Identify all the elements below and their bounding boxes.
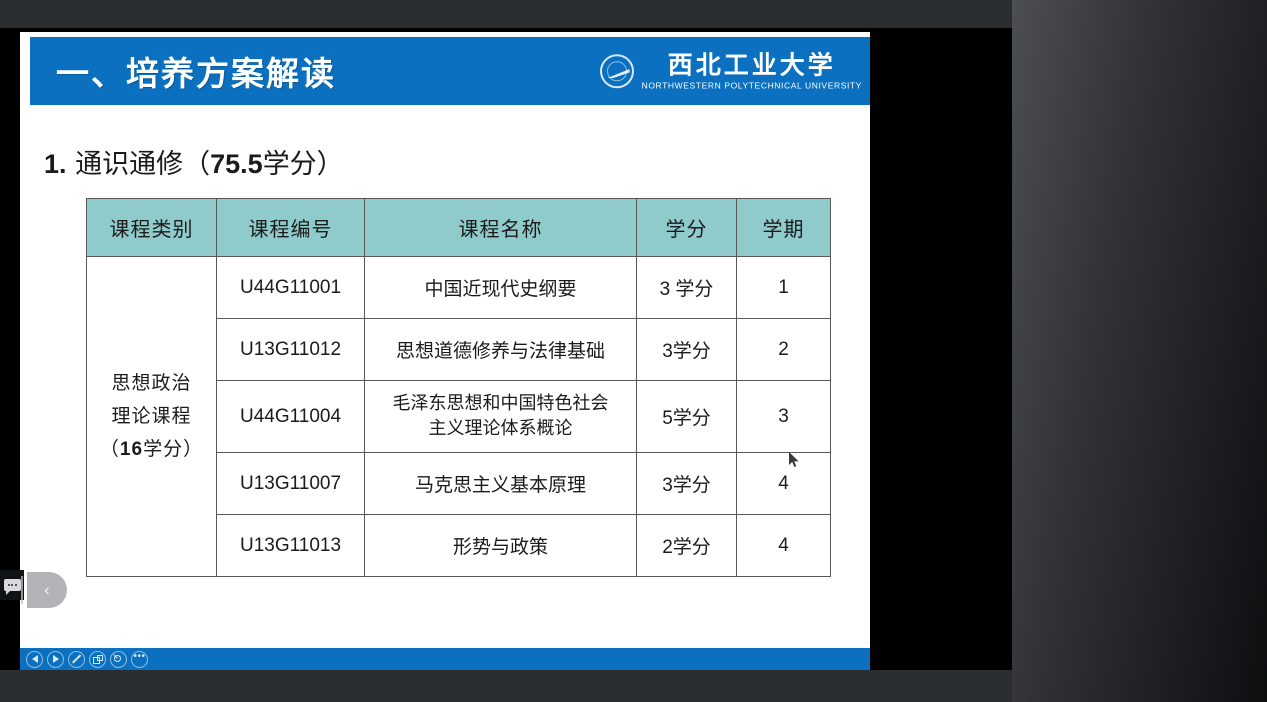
university-name-cn: 西北工业大学 (668, 52, 836, 77)
cell-course-term: 2 (737, 319, 831, 381)
slide-section-heading: 1. 通识通修（75.5学分） (44, 142, 344, 181)
cell-course-name: 形势与政策 (365, 515, 637, 577)
zoom-button[interactable] (110, 651, 127, 668)
cell-course-name: 中国近现代史纲要 (365, 257, 637, 319)
table-row: 思想政治 理论课程 （16学分） U44G11001 中国近现代史纲要 3 学分… (87, 257, 831, 319)
pen-tool-button[interactable] (68, 651, 85, 668)
table-header-row: 课程类别 课程编号 课程名称 学分 学期 (87, 199, 831, 257)
previous-slide-button[interactable] (26, 651, 43, 668)
course-name-line-1: 毛泽东思想和中国特色社会 (365, 392, 636, 416)
screen-root: 一、培养方案解读 西北工业大学 NORTHWESTERN POLYTECHNIC… (0, 0, 1267, 702)
cell-course-credit: 3学分 (637, 453, 737, 515)
chat-bubble-icon[interactable] (4, 579, 21, 591)
cell-course-name: 思想道德修养与法律基础 (365, 319, 637, 381)
cell-course-code: U44G11001 (217, 257, 365, 319)
cell-category: 思想政治 理论课程 （16学分） (87, 257, 217, 577)
participants-filmstrip: 高永胜 涵璞璞 (1012, 0, 1267, 702)
collapse-panel-button[interactable]: ‹ (27, 572, 67, 608)
category-credits: （16学分） (87, 433, 216, 466)
column-header-category: 课程类别 (87, 199, 217, 257)
all-slides-button[interactable] (89, 651, 106, 668)
cell-course-code: U13G11012 (217, 319, 365, 381)
slide-title: 一、培养方案解读 (56, 47, 336, 95)
column-header-term: 学期 (737, 199, 831, 257)
cell-course-credit: 3学分 (637, 319, 737, 381)
university-name-en: NORTHWESTERN POLYTECHNICAL UNIVERSITY (642, 81, 862, 90)
slide-title-bar: 一、培养方案解读 西北工业大学 NORTHWESTERN POLYTECHNIC… (30, 37, 870, 105)
cell-course-code: U13G11013 (217, 515, 365, 577)
cell-course-name: 毛泽东思想和中国特色社会 主义理论体系概论 (365, 381, 637, 453)
ellipsis-icon: ••• (133, 652, 145, 662)
heading-text: 通识通修（ (75, 149, 210, 180)
course-name-line-2: 主义理论体系概论 (365, 417, 636, 441)
university-logo: 西北工业大学 NORTHWESTERN POLYTECHNICAL UNIVER… (600, 52, 862, 90)
heading-credits: 75.5 (210, 149, 263, 179)
cell-course-code: U44G11004 (217, 381, 365, 453)
presenter-toolbar[interactable]: ••• (20, 648, 870, 670)
screen-share-stage: 一、培养方案解读 西北工业大学 NORTHWESTERN POLYTECHNIC… (0, 0, 1012, 702)
course-table: 课程类别 课程编号 课程名称 学分 学期 思想政治 理论课程 （16学分） (86, 198, 831, 577)
presentation-slide: 一、培养方案解读 西北工业大学 NORTHWESTERN POLYTECHNIC… (20, 32, 870, 670)
cell-course-credit: 5学分 (637, 381, 737, 453)
cell-course-term: 4 (737, 453, 831, 515)
course-table-body: 思想政治 理论课程 （16学分） U44G11001 中国近现代史纲要 3 学分… (87, 257, 831, 577)
category-line-2: 理论课程 (87, 400, 216, 433)
mouse-cursor (789, 452, 800, 468)
heading-number: 1. (44, 149, 67, 179)
cell-course-term: 1 (737, 257, 831, 319)
category-credits-value: 16 (120, 439, 143, 460)
column-header-credit: 学分 (637, 199, 737, 257)
cell-course-term: 3 (737, 381, 831, 453)
cell-course-term: 4 (737, 515, 831, 577)
cell-course-name: 马克思主义基本原理 (365, 453, 637, 515)
university-logo-texts: 西北工业大学 NORTHWESTERN POLYTECHNICAL UNIVER… (642, 52, 862, 90)
column-header-name: 课程名称 (365, 199, 637, 257)
cell-course-code: U13G11007 (217, 453, 365, 515)
heading-suffix: 学分） (263, 149, 344, 180)
next-slide-button[interactable] (47, 651, 64, 668)
cell-course-credit: 2学分 (637, 515, 737, 577)
column-header-code: 课程编号 (217, 199, 365, 257)
category-line-1: 思想政治 (87, 367, 216, 400)
more-options-button[interactable]: ••• (131, 651, 148, 668)
university-seal-icon (600, 54, 634, 88)
course-table-head: 课程类别 课程编号 课程名称 学分 学期 (87, 199, 831, 257)
cell-course-credit: 3 学分 (637, 257, 737, 319)
